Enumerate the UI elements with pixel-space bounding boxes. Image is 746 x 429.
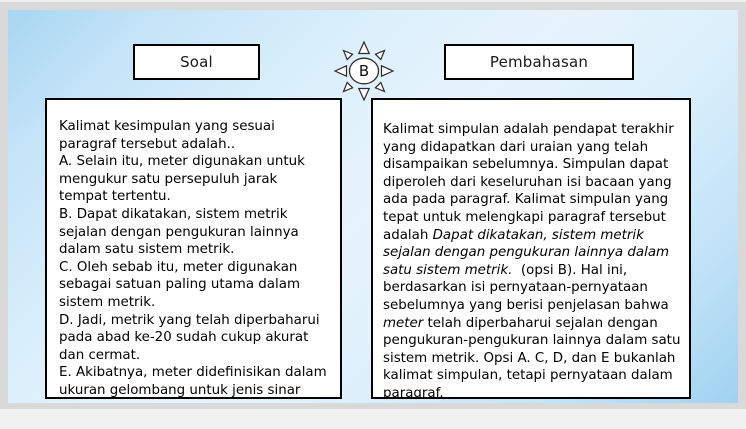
pembahasan-segment-4-italic: meter: [383, 316, 423, 331]
pembahasan-segment-5: telah diperbaharui sejalan dengan penguk…: [383, 316, 685, 399]
soal-text: Kalimat kesimpulan yang sesuai paragraf …: [59, 118, 330, 399]
app-frame: Soal: [0, 0, 746, 429]
header-box-pembahasan[interactable]: Pembahasan: [444, 44, 634, 80]
sunburst-icon: B: [333, 40, 395, 102]
panel-soal[interactable]: Kalimat kesimpulan yang sesuai paragraf …: [45, 98, 342, 399]
header-label-pembahasan: Pembahasan: [490, 53, 588, 71]
slide-canvas: Soal: [8, 10, 738, 403]
header-label-soal: Soal: [180, 53, 213, 71]
pembahasan-text: Kalimat simpulan adalah pendapat terakhi…: [383, 121, 681, 399]
slide-outer-frame: Soal: [0, 2, 746, 409]
panel-soal-body: Kalimat kesimpulan yang sesuai paragraf …: [47, 100, 340, 399]
header-box-soal[interactable]: Soal: [133, 44, 260, 80]
panel-pembahasan[interactable]: Kalimat simpulan adalah pendapat terakhi…: [371, 98, 691, 399]
sunburst-rays-icon: [333, 40, 395, 102]
panel-pembahasan-body: Kalimat simpulan adalah pendapat terakhi…: [373, 100, 689, 399]
pembahasan-segment-1: Kalimat simpulan adalah pendapat terakhi…: [383, 122, 678, 243]
